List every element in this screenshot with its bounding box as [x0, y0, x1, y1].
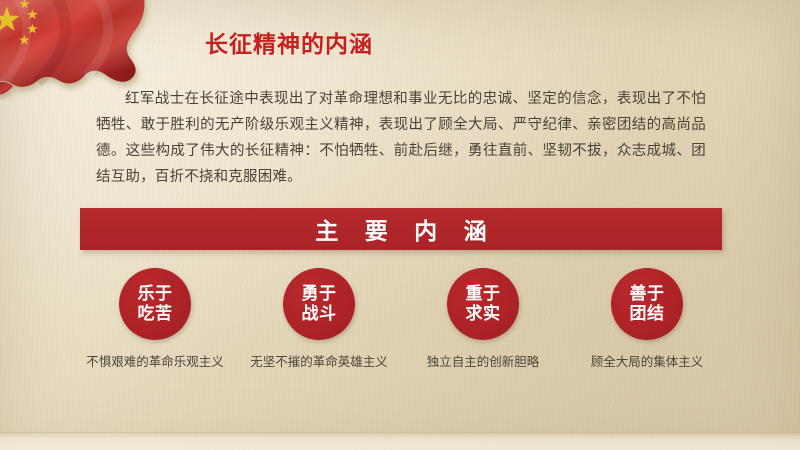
circle-label-line1: 重于	[466, 284, 501, 304]
item-caption: 不惧艰难的革命乐观主义	[85, 353, 225, 372]
page-title: 长征精神的内涵	[205, 25, 373, 59]
content-items-row: 乐于 吃苦 不惧艰难的革命乐观主义 勇于 战斗 无坚不摧的革命英雄主义 重于 求…	[80, 268, 722, 418]
list-item[interactable]: 乐于 吃苦 不惧艰难的革命乐观主义	[80, 268, 230, 372]
circle-badge[interactable]: 重于 求实	[447, 268, 519, 340]
circle-badge[interactable]: 勇于 战斗	[283, 268, 355, 340]
list-item[interactable]: 善于 团结 顾全大局的集体主义	[572, 268, 722, 372]
circle-badge[interactable]: 善于 团结	[611, 268, 683, 340]
list-item[interactable]: 重于 求实 独立自主的创新胆略	[408, 268, 558, 372]
item-caption: 顾全大局的集体主义	[577, 353, 717, 372]
circle-label-line2: 团结	[630, 304, 665, 324]
item-caption: 无坚不摧的革命英雄主义	[249, 353, 389, 372]
list-item[interactable]: 勇于 战斗 无坚不摧的革命英雄主义	[244, 268, 394, 372]
circle-label-line1: 勇于	[302, 284, 337, 304]
circle-label-line1: 善于	[630, 284, 665, 304]
body-paragraph: 红军战士在长征途中表现出了对革命理想和事业无比的忠诚、坚定的信念，表现出了不怕牺…	[96, 86, 706, 190]
circle-label-line2: 吃苦	[138, 304, 173, 324]
slide-canvas: 长征精神的内涵 红军战士在长征途中表现出了对革命理想和事业无比的忠诚、坚定的信念…	[0, 0, 800, 450]
circle-label-line2: 求实	[466, 304, 501, 324]
circle-label-line2: 战斗	[302, 304, 337, 324]
bottom-edge-strip	[0, 432, 800, 450]
circle-badge[interactable]: 乐于 吃苦	[119, 268, 191, 340]
section-banner: 主 要 内 涵	[80, 208, 722, 250]
section-banner-label: 主 要 内 涵	[305, 212, 496, 246]
china-flag-icon	[0, 0, 180, 100]
item-caption: 独立自主的创新胆略	[413, 353, 553, 372]
circle-label-line1: 乐于	[138, 284, 173, 304]
